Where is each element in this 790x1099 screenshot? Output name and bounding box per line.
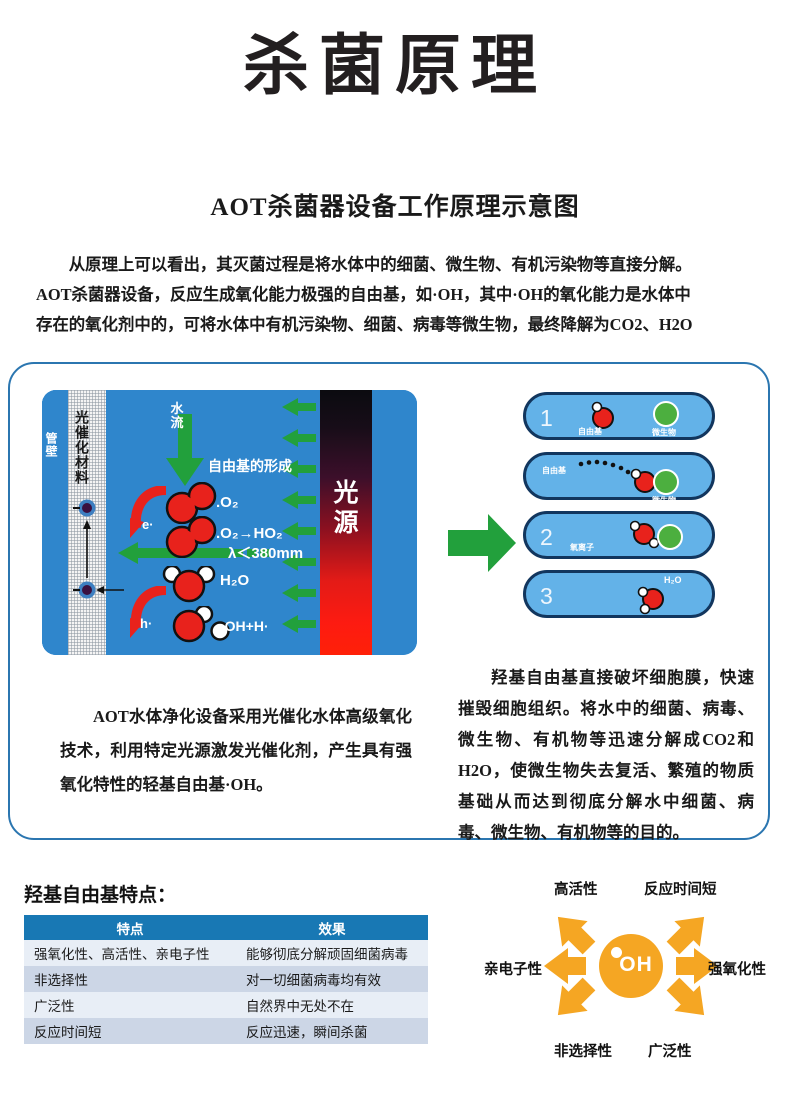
- cell-effect: 对一切细菌病毒均有效: [236, 966, 428, 992]
- microbe-icon-1: [653, 401, 679, 427]
- light-source-label: 光 源: [320, 478, 372, 538]
- table-row: 广泛性 自然界中无处不在: [24, 992, 428, 1018]
- cell-feature: 广泛性: [24, 992, 236, 1018]
- h2o-label: H₂O: [664, 575, 682, 585]
- light-source-label-2: 源: [320, 508, 372, 538]
- pipe-wall-label: 管壁: [45, 432, 57, 458]
- formula-ho2: .O₂→HO₂: [216, 525, 283, 542]
- header-feature: 特点: [24, 915, 236, 940]
- cell-effect: 自然界中无处不在: [236, 992, 428, 1018]
- water-molecule: [162, 566, 222, 606]
- step-number-1: 1: [540, 403, 553, 433]
- cell-feature: 强氧化性、高活性、亲电子性: [24, 940, 236, 966]
- step-number-2: 2: [540, 522, 553, 552]
- electron-label: e·: [142, 517, 154, 532]
- hole-label: h·: [140, 616, 152, 631]
- radial-label-non-selective: 非选择性: [554, 1040, 612, 1061]
- oxygen-molecule-2: [164, 516, 220, 558]
- cell-feature: 反应时间短: [24, 1018, 236, 1044]
- cell-feature: 非选择性: [24, 966, 236, 992]
- step-capsule-4: 3 H₂O: [523, 570, 715, 618]
- radical-formation-label: 自由基的形成: [208, 456, 292, 476]
- formula-h2o: H₂O: [220, 572, 249, 589]
- light-source-bar: 光 源: [320, 390, 372, 655]
- table-header-row: 特点 效果: [24, 915, 428, 940]
- water-molecule-icon: [636, 583, 670, 617]
- microbe-label-1: 微生物: [652, 427, 676, 438]
- step-capsule-3: 2 氧离子: [523, 511, 715, 559]
- table-row: 反应时间短 反应迅速，瞬间杀菌: [24, 1018, 428, 1044]
- page-root: 杀菌原理 AOT杀菌器设备工作原理示意图 从原理上可以看出，其灭菌过程是将水体中…: [0, 0, 790, 1099]
- water-flow-label-text: 水流: [170, 401, 183, 430]
- radial-label-wide-range: 广泛性: [648, 1040, 692, 1061]
- oh-radial-diagram: OH 高活性 反应时间短 亲电子性 强氧化性 非选择性 广泛性: [486, 876, 776, 1066]
- formula-oh-h: ·OH+H·: [220, 618, 269, 634]
- intro-line-3: 存在的氧化剂中的，可将水体中有机污染物、细菌、病毒等微生物，最终降解为CO2、H…: [36, 310, 754, 340]
- formula-o2: .O₂: [216, 494, 239, 511]
- microbe-label-2: 微生物: [652, 495, 676, 506]
- wavelength-label: λ＜380mm: [228, 542, 303, 563]
- step-number-3: 3: [540, 581, 553, 611]
- intro-line-1: 从原理上可以看出，其灭菌过程是将水体中的细菌、微生物、有机污染物等直接分解。: [36, 250, 754, 280]
- intro-paragraph: 从原理上可以看出，其灭菌过程是将水体中的细菌、微生物、有机污染物等直接分解。 A…: [36, 250, 754, 340]
- microbe-icon-2: [653, 469, 679, 495]
- process-flow-arrow: [448, 512, 518, 574]
- table-row: 非选择性 对一切细菌病毒均有效: [24, 966, 428, 992]
- section-subtitle: AOT杀菌器设备工作原理示意图: [0, 192, 790, 224]
- step-capsule-1: 1 自由基 微生物: [523, 392, 715, 440]
- table-row: 强氧化性、高活性、亲电子性 能够彻底分解顽固细菌病毒: [24, 940, 428, 966]
- catalyst-label: 光催化材料: [75, 410, 89, 485]
- water-flow-label: 水流: [165, 402, 189, 430]
- features-title: 羟基自由基特点：: [24, 880, 176, 907]
- radial-label-high-activity: 高活性: [554, 878, 598, 899]
- oxygen-ion-label: 氧离子: [570, 542, 594, 553]
- reactor-diagram: 管壁 光催化材料 水流: [42, 390, 417, 655]
- page-title: 杀菌原理: [0, 28, 790, 106]
- light-source-label-1: 光: [320, 478, 372, 508]
- radical-label-2: 自由基: [542, 465, 566, 476]
- light-emission-arrows: [282, 398, 324, 648]
- microbe-icon-3: [657, 524, 683, 550]
- oh-center-badge: OH: [599, 934, 663, 998]
- features-table: 特点 效果 强氧化性、高活性、亲电子性 能够彻底分解顽固细菌病毒 非选择性 对一…: [24, 915, 428, 1044]
- radial-label-fast-reaction: 反应时间短: [644, 878, 717, 899]
- caption-left: AOT水体净化设备采用光催化水体高级氧化技术，利用特定光源激发光催化剂，产生具有…: [60, 700, 412, 802]
- radial-label-strong-oxidation: 强氧化性: [708, 958, 766, 979]
- step-capsule-2: 自由基 微生物: [523, 452, 715, 500]
- intro-line-2: AOT杀菌器设备，反应生成氧化能力极强的自由基，如·OH，其中·OH的氧化能力是…: [36, 280, 754, 310]
- cell-effect: 反应迅速，瞬间杀菌: [236, 1018, 428, 1044]
- pipe-wall: [42, 390, 68, 655]
- radical-label-1: 自由基: [578, 426, 602, 437]
- header-effect: 效果: [236, 915, 428, 940]
- mechanism-steps: 1 自由基 微生物 自由基 微生物: [523, 392, 723, 632]
- radical-icon-1: [588, 401, 616, 429]
- cell-effect: 能够彻底分解顽固细菌病毒: [236, 940, 428, 966]
- oh-center-label: OH: [599, 954, 663, 976]
- radial-label-electrophilic: 亲电子性: [484, 958, 542, 979]
- caption-right: 羟基自由基直接破坏细胞膜，快速摧毁细胞组织。将水中的细菌、病毒、微生物、有机物等…: [458, 662, 754, 848]
